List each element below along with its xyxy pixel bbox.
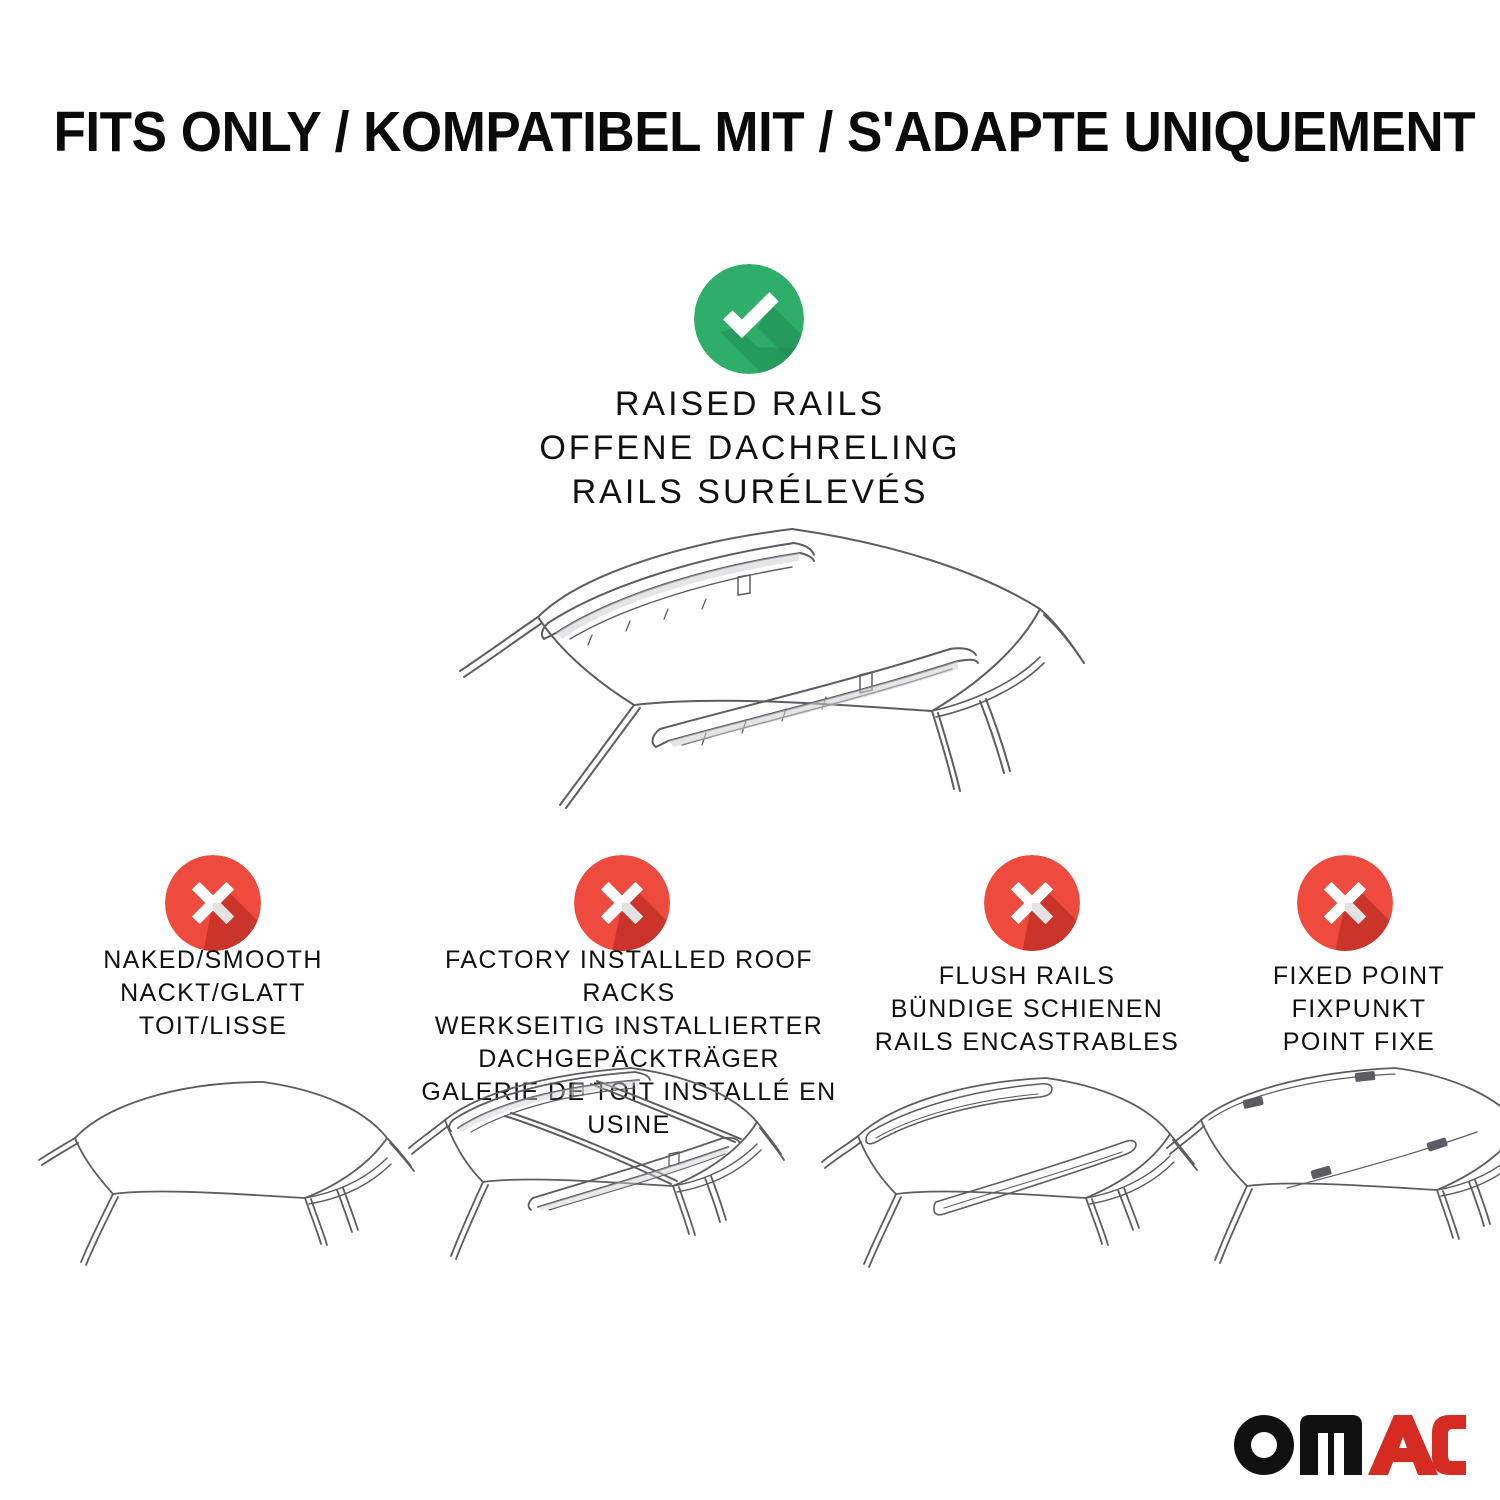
car-roof-factory-roof-racks-illustration xyxy=(405,1058,795,1293)
check-circle-icon xyxy=(694,264,804,374)
x-circle-icon-naked-smooth xyxy=(165,855,261,951)
omac-logo xyxy=(1228,1407,1466,1479)
x-circle-icon-fixed-point xyxy=(1297,855,1393,951)
car-roof-flush-rails-illustration xyxy=(818,1058,1208,1293)
car-roof-raised-rails-illustration xyxy=(420,505,1100,835)
page-title: FITS ONLY / KOMPATIBEL MIT / S'ADAPTE UN… xyxy=(54,103,1476,163)
car-roof-fixed-point-illustration xyxy=(1165,1058,1500,1293)
compatible-label: RAISED RAILS OFFENE DACHRELING RAILS SUR… xyxy=(400,382,1100,515)
x-circle-icon-flush-rails xyxy=(984,855,1080,951)
page-title-bar: FITS ONLY / KOMPATIBEL MIT / S'ADAPTE UN… xyxy=(0,103,1500,163)
car-roof-naked-smooth-illustration xyxy=(35,1058,425,1293)
x-circle-icon-factory-roof-racks xyxy=(574,855,670,951)
incompatible-label-naked-smooth: NAKED/SMOOTH NACKT/GLATT TOIT/LISSE xyxy=(48,944,378,1043)
incompatible-label-fixed-point: FIXED POINT FIXPUNKT POINT FIXE xyxy=(1218,960,1500,1059)
incompatible-label-flush-rails: FLUSH RAILS BÜNDIGE SCHIENEN RAILS ENCAS… xyxy=(862,960,1192,1059)
